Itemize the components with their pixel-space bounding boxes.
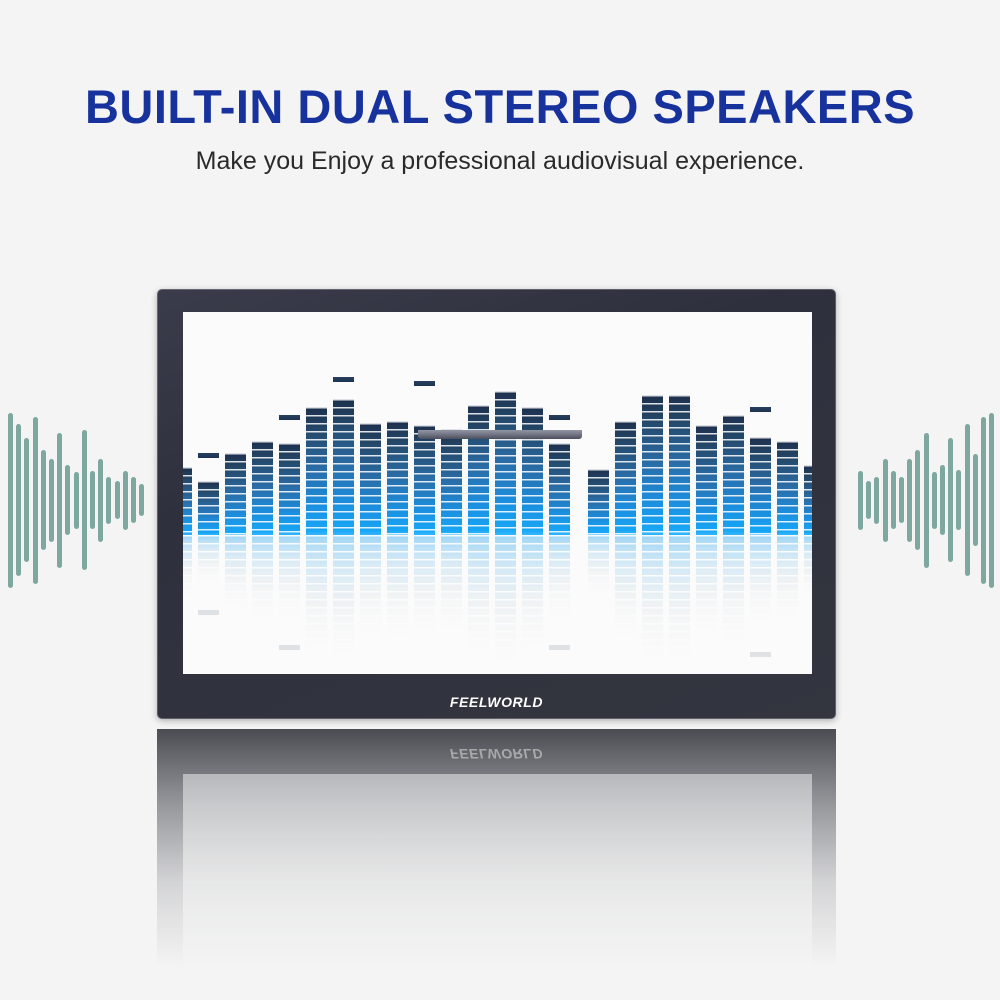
equalizer-bar-reflection bbox=[333, 535, 354, 660]
equalizer-bar-reflection bbox=[804, 535, 812, 599]
equalizer-column bbox=[468, 312, 489, 674]
equalizer-bar-reflection bbox=[549, 535, 570, 620]
equalizer-bar bbox=[723, 415, 744, 535]
sound-wave-bar bbox=[866, 481, 871, 519]
equalizer-peak-marker bbox=[750, 407, 771, 412]
equalizer-bar bbox=[333, 399, 354, 535]
equalizer-bar bbox=[495, 391, 516, 535]
equalizer-bar-reflection bbox=[615, 535, 636, 640]
equalizer-bar bbox=[414, 425, 435, 535]
equalizer-peak-marker bbox=[549, 415, 570, 420]
equalizer-bar-reflection bbox=[777, 535, 798, 621]
equalizer-bar bbox=[183, 467, 192, 535]
sound-wave-bar bbox=[915, 450, 920, 550]
equalizer-peak-marker-reflection bbox=[198, 610, 219, 615]
equalizer-bar-reflection bbox=[642, 535, 663, 664]
equalizer-peak-marker bbox=[333, 377, 354, 382]
monitor-stand-foot bbox=[418, 430, 582, 439]
sound-wave-bar bbox=[74, 472, 79, 529]
sound-wave-bar bbox=[899, 477, 904, 523]
monitor-device: FEELWORLD bbox=[157, 289, 836, 719]
equalizer-bar bbox=[615, 421, 636, 535]
sound-wave-bar bbox=[907, 459, 912, 542]
equalizer-column bbox=[441, 312, 462, 674]
sound-wave-right-decoration bbox=[850, 330, 1000, 670]
equalizer-column bbox=[522, 312, 543, 674]
equalizer-bar-reflection bbox=[183, 535, 192, 598]
equalizer-column bbox=[198, 312, 219, 674]
equalizer-bar bbox=[387, 421, 408, 535]
equalizer-bar bbox=[522, 407, 543, 535]
sound-wave-bar bbox=[956, 470, 961, 530]
equalizer-bar bbox=[441, 429, 462, 535]
equalizer-column bbox=[252, 312, 273, 674]
equalizer-bar bbox=[306, 407, 327, 535]
page-title: BUILT-IN DUAL STEREO SPEAKERS bbox=[0, 82, 1000, 131]
sound-wave-bar bbox=[90, 471, 95, 529]
sound-wave-bar bbox=[49, 459, 54, 542]
sound-wave-bar bbox=[65, 465, 70, 535]
sound-wave-bar bbox=[973, 454, 978, 546]
equalizer-bar-reflection bbox=[669, 535, 690, 664]
reflection-bezel: FEELWORLD bbox=[157, 729, 836, 989]
equalizer-bar bbox=[642, 395, 663, 535]
equalizer-column bbox=[306, 312, 327, 674]
equalizer-bar bbox=[588, 469, 609, 535]
equalizer-column bbox=[183, 312, 192, 674]
equalizer-bar-reflection bbox=[252, 535, 273, 621]
sound-wave-bar bbox=[57, 433, 62, 568]
audio-equalizer-chart bbox=[183, 312, 812, 674]
sound-wave-bar bbox=[24, 438, 29, 562]
sound-wave-bar bbox=[883, 459, 888, 542]
sound-wave-bar bbox=[989, 413, 994, 588]
sound-wave-bar bbox=[106, 477, 111, 524]
equalizer-column bbox=[615, 312, 636, 674]
equalizer-bar bbox=[549, 443, 570, 535]
equalizer-column bbox=[804, 312, 812, 674]
equalizer-bar-reflection bbox=[387, 535, 408, 640]
equalizer-bar bbox=[198, 481, 219, 535]
equalizer-column bbox=[414, 312, 435, 674]
sound-wave-bar bbox=[940, 465, 945, 535]
equalizer-column bbox=[669, 312, 690, 674]
equalizer-bar bbox=[468, 405, 489, 535]
equalizer-bar bbox=[360, 423, 381, 535]
equalizer-peak-marker-reflection bbox=[750, 652, 771, 657]
equalizer-bar-reflection bbox=[588, 535, 609, 596]
sound-wave-bar bbox=[932, 472, 937, 529]
equalizer-column bbox=[279, 312, 300, 674]
sound-wave-bar bbox=[82, 430, 87, 570]
sound-wave-bar bbox=[123, 471, 128, 530]
sound-wave-bar bbox=[16, 424, 21, 576]
equalizer-bar bbox=[669, 395, 690, 535]
sound-wave-bar bbox=[891, 471, 896, 529]
equalizer-bar bbox=[777, 441, 798, 535]
equalizer-column bbox=[549, 312, 570, 674]
header-block: BUILT-IN DUAL STEREO SPEAKERS Make you E… bbox=[0, 0, 1000, 176]
equalizer-bar-reflection bbox=[279, 535, 300, 620]
equalizer-bar-reflection bbox=[306, 535, 327, 653]
brand-logo: FEELWORLD bbox=[157, 694, 836, 710]
sound-wave-bar bbox=[41, 450, 46, 550]
equalizer-bar-reflection bbox=[414, 535, 435, 636]
equalizer-peak-marker-reflection bbox=[549, 645, 570, 650]
equalizer-bar-reflection bbox=[441, 535, 462, 633]
sound-wave-left-decoration bbox=[0, 330, 150, 670]
sound-wave-bar bbox=[115, 481, 120, 519]
equalizer-bar-reflection bbox=[198, 535, 219, 585]
equalizer-column bbox=[360, 312, 381, 674]
sound-wave-bar bbox=[965, 424, 970, 576]
equalizer-bar bbox=[804, 465, 812, 535]
equalizer-column bbox=[777, 312, 798, 674]
sound-wave-bar bbox=[33, 417, 38, 584]
page-subtitle: Make you Enjoy a professional audiovisua… bbox=[0, 147, 1000, 176]
reflection-screen bbox=[183, 774, 812, 989]
equalizer-bar bbox=[750, 437, 771, 535]
sound-wave-bar bbox=[8, 413, 13, 588]
equalizer-bar-reflection bbox=[750, 535, 771, 625]
equalizer-bar bbox=[696, 425, 717, 535]
sound-wave-bar bbox=[131, 477, 136, 523]
equalizer-bar-reflection bbox=[522, 535, 543, 653]
equalizer-bar-reflection bbox=[225, 535, 246, 610]
monitor-screen bbox=[183, 312, 812, 674]
sound-wave-bar bbox=[858, 471, 863, 530]
sound-wave-bar bbox=[139, 484, 144, 516]
equalizer-column bbox=[588, 312, 609, 674]
equalizer-bar bbox=[252, 441, 273, 535]
sound-wave-bar bbox=[924, 433, 929, 568]
equalizer-column bbox=[642, 312, 663, 674]
sound-wave-bar bbox=[948, 438, 953, 562]
equalizer-bar-reflection bbox=[360, 535, 381, 638]
equalizer-bar-reflection bbox=[468, 535, 489, 655]
equalizer-column bbox=[723, 312, 744, 674]
equalizer-column bbox=[495, 312, 516, 674]
equalizer-column bbox=[225, 312, 246, 674]
monitor-reflection: FEELWORLD bbox=[157, 729, 836, 989]
equalizer-bar-reflection bbox=[495, 535, 516, 667]
reflection-brand-logo: FEELWORLD bbox=[157, 746, 836, 762]
equalizer-bar-reflection bbox=[696, 535, 717, 636]
equalizer-column bbox=[387, 312, 408, 674]
equalizer-bar-reflection bbox=[723, 535, 744, 645]
equalizer-peak-marker bbox=[198, 453, 219, 458]
equalizer-peak-marker bbox=[279, 415, 300, 420]
equalizer-bar bbox=[279, 443, 300, 535]
equalizer-column bbox=[333, 312, 354, 674]
equalizer-column bbox=[750, 312, 771, 674]
sound-wave-bar bbox=[98, 459, 103, 542]
equalizer-peak-marker-reflection bbox=[279, 645, 300, 650]
sound-wave-bar bbox=[874, 477, 879, 524]
equalizer-column bbox=[696, 312, 717, 674]
equalizer-bar bbox=[225, 453, 246, 535]
sound-wave-bar bbox=[981, 417, 986, 584]
equalizer-peak-marker bbox=[414, 381, 435, 386]
